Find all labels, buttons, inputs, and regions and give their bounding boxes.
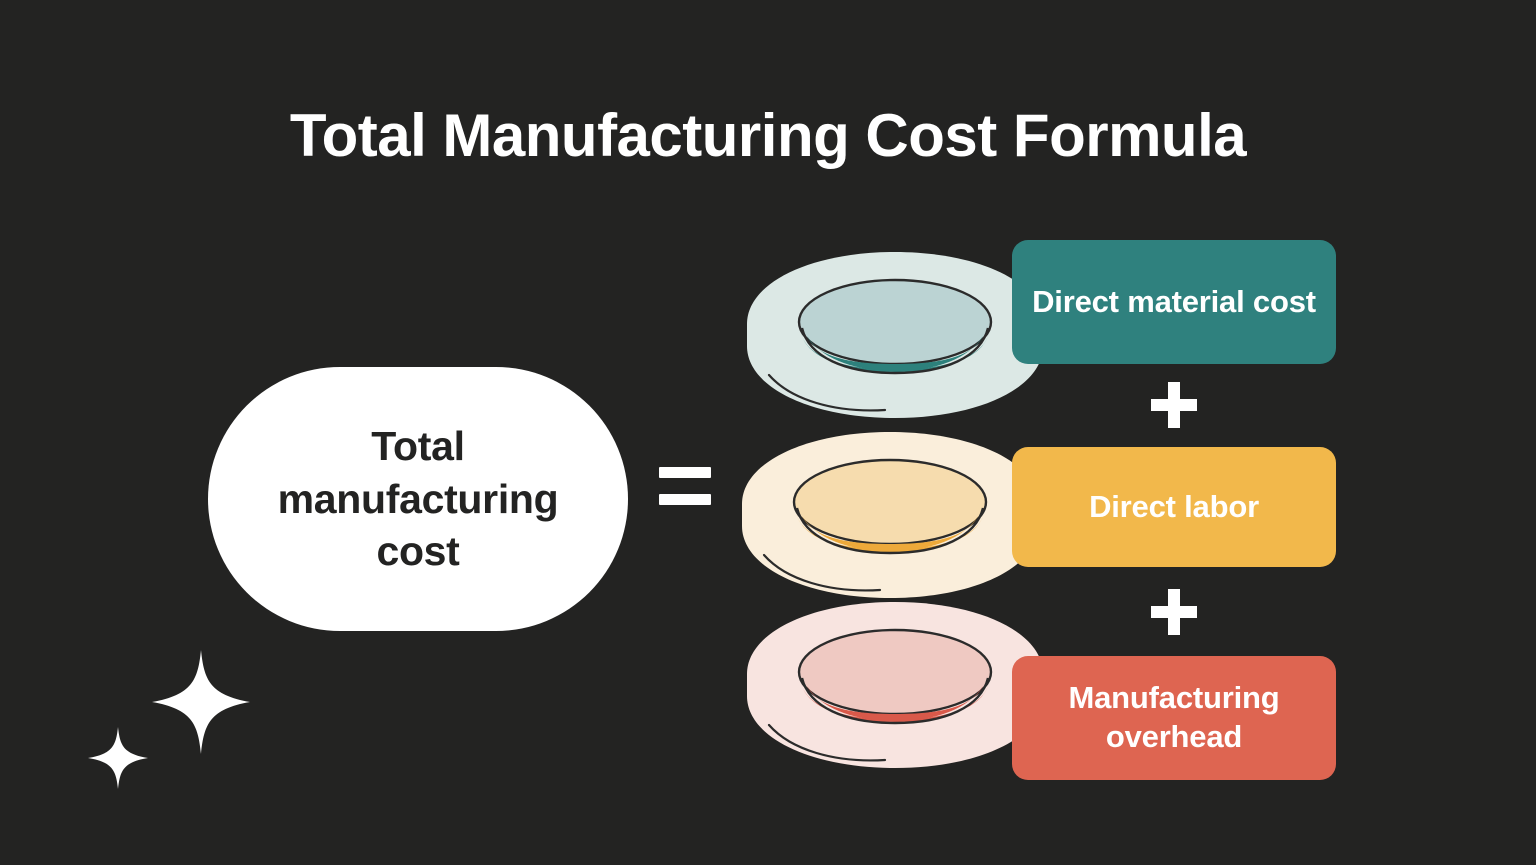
slide-canvas: Total Manufacturing Cost Formula Total m…	[0, 0, 1536, 865]
equals-bar-top	[659, 467, 711, 478]
bowl-direct-material	[745, 250, 1045, 425]
equals-icon	[659, 467, 711, 505]
bowl-manufacturing-overhead	[745, 600, 1045, 775]
bowl-direct-labor	[740, 430, 1040, 605]
plus-icon-2	[1151, 589, 1197, 635]
term-box-direct-labor[interactable]: Direct labor	[1012, 447, 1336, 567]
term-label-manufacturing-overhead: Manufacturing overhead	[1012, 679, 1336, 757]
equals-bar-bottom	[659, 494, 711, 505]
plus-stroke-horizontal	[1151, 606, 1197, 618]
plus-stroke-horizontal	[1151, 399, 1197, 411]
term-box-manufacturing-overhead[interactable]: Manufacturing overhead	[1012, 656, 1336, 780]
term-box-direct-material[interactable]: Direct material cost	[1012, 240, 1336, 364]
sparkle-icon-large	[152, 650, 250, 754]
plus-icon-1	[1151, 382, 1197, 428]
term-label-direct-material: Direct material cost	[1032, 283, 1316, 322]
sparkle-icon-small	[88, 727, 148, 789]
page-title: Total Manufacturing Cost Formula	[0, 103, 1536, 169]
total-cost-label: Total manufacturing cost	[208, 420, 628, 577]
total-cost-pill: Total manufacturing cost	[208, 367, 628, 631]
term-label-direct-labor: Direct labor	[1089, 488, 1259, 527]
